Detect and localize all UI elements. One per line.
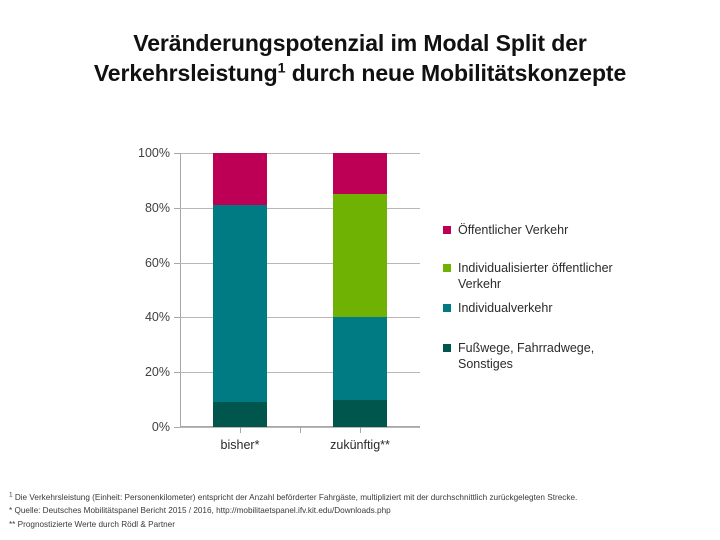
x-axis-label-2: zukünftig** (330, 438, 390, 452)
chart-stacked-bar-modal-split: 0%20%40%60%80%100% bisher*zukünftig** (112, 140, 442, 460)
bar-segment[interactable] (333, 153, 387, 194)
bar-segment[interactable] (213, 205, 267, 402)
y-axis-label-20: 20% (145, 365, 170, 379)
legend-swatch-icon (443, 264, 451, 272)
footnote-text: Quelle: Deutsches Mobilitätspanel Berich… (12, 506, 391, 515)
x-axis-label-1: bisher* (221, 438, 260, 452)
bar-segment[interactable] (333, 317, 387, 399)
footnote-2: * Quelle: Deutsches Mobilitätspanel Beri… (9, 504, 711, 518)
footnote-1: 1 Die Verkehrsleistung (Einheit: Persone… (9, 491, 711, 505)
y-axis-label-80: 80% (145, 201, 170, 215)
bar-segment[interactable] (213, 153, 267, 205)
bar-group-2[interactable]: zukünftig** (333, 153, 387, 427)
y-tick-100 (174, 153, 180, 154)
legend-item-3[interactable]: Individualverkehr (443, 300, 553, 316)
y-tick-60 (174, 263, 180, 264)
legend-item-label: Fußwege, Fahrradwege, Sonstiges (458, 340, 633, 372)
footnote-text: Die Verkehrsleistung (Einheit: Personenk… (13, 493, 578, 502)
y-axis-label-40: 40% (145, 310, 170, 324)
legend-swatch-icon (443, 344, 451, 352)
y-axis-label-100: 100% (138, 146, 170, 160)
legend-item-label: Individualverkehr (458, 300, 553, 316)
page-title-line-2: Verkehrsleistung1 durch neue Mobilitätsk… (40, 58, 680, 88)
bar-group-1[interactable]: bisher* (213, 153, 267, 427)
page-title: Veränderungspotenzial im Modal Split der… (40, 28, 680, 88)
bar-segment[interactable] (213, 402, 267, 427)
x-tick-1 (240, 427, 241, 433)
page-title-line-2-text: Verkehrsleistung (94, 60, 278, 86)
y-tick-0 (174, 427, 180, 428)
y-axis-line (180, 153, 181, 427)
page-title-line-1: Veränderungspotenzial im Modal Split der (40, 28, 680, 58)
bar-segment[interactable] (333, 400, 387, 427)
footnote-3: ** Prognostizierte Werte durch Rödl & Pa… (9, 518, 711, 532)
y-tick-20 (174, 372, 180, 373)
y-axis-label-0: 0% (152, 420, 170, 434)
x-tick-2 (360, 427, 361, 433)
legend-item-1[interactable]: Öffentlicher Verkehr (443, 222, 568, 238)
legend-item-2[interactable]: Individualisierter öffentlicher Verkehr (443, 260, 633, 292)
footnotes: 1 Die Verkehrsleistung (Einheit: Persone… (9, 491, 711, 532)
plot-area: 0%20%40%60%80%100% bisher*zukünftig** (180, 153, 420, 427)
x-tick-divider (300, 427, 301, 433)
legend-swatch-icon (443, 226, 451, 234)
y-axis-label-60: 60% (145, 256, 170, 270)
legend-item-label: Individualisierter öffentlicher Verkehr (458, 260, 633, 292)
page-title-line-2-tail: durch neue Mobilitätskonzepte (285, 60, 626, 86)
legend-item-label: Öffentlicher Verkehr (458, 222, 568, 238)
footnote-text: Prognostizierte Werte durch Rödl & Partn… (15, 520, 175, 529)
legend-swatch-icon (443, 304, 451, 312)
bar-segment[interactable] (333, 194, 387, 317)
legend-item-4[interactable]: Fußwege, Fahrradwege, Sonstiges (443, 340, 633, 372)
y-tick-40 (174, 317, 180, 318)
y-tick-80 (174, 208, 180, 209)
